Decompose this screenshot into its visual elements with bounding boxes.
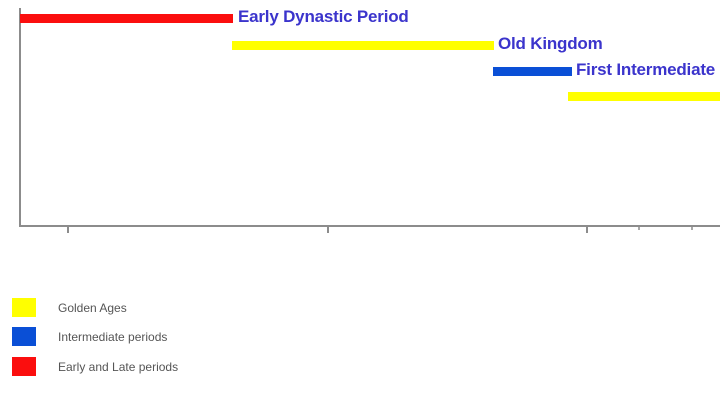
x-tick-label-2000: -2000: [570, 238, 603, 240]
legend-swatch-intermediate-periods-icon: [12, 327, 36, 346]
x-tick-mark-minor-2: [691, 227, 693, 230]
legend-label-intermediate-periods: Intermediate periods: [58, 330, 167, 344]
timeline-bar-label-first-intermediate-period: First Intermediate Period: [576, 60, 720, 80]
x-tick-mark-minor-1: [638, 227, 640, 230]
x-tick-label-3000: -3000: [51, 238, 84, 240]
timeline-bar-label-early-dynastic-period: Early Dynastic Period: [238, 7, 409, 27]
timeline-bar-label-old-kingdom: Old Kingdom: [498, 34, 603, 54]
timeline-bar-golden-age-clipped[interactable]: [568, 92, 720, 101]
legend-swatch-early-and-late-periods-icon: [12, 357, 36, 376]
legend-label-early-and-late-periods: Early and Late periods: [58, 360, 178, 374]
timeline-chart: Early Dynastic Period Old Kingdom First …: [0, 0, 720, 405]
legend: Golden Ages Intermediate periods Early a…: [0, 285, 720, 405]
legend-swatch-golden-ages-icon: [12, 298, 36, 317]
x-tick-mark-3000: [67, 227, 69, 233]
timeline-bar-early-dynastic-period[interactable]: [20, 14, 233, 23]
timeline-bar-old-kingdom[interactable]: [232, 41, 494, 50]
x-tick-mark-2500: [327, 227, 329, 233]
y-axis-line: [19, 8, 21, 227]
x-axis-line: [19, 225, 720, 227]
x-tick-label-2500: -2500: [311, 238, 344, 240]
x-tick-mark-2000: [586, 227, 588, 233]
legend-label-golden-ages: Golden Ages: [58, 301, 127, 315]
plot-area: Early Dynastic Period Old Kingdom First …: [0, 0, 720, 240]
timeline-bar-first-intermediate-period[interactable]: [493, 67, 572, 76]
